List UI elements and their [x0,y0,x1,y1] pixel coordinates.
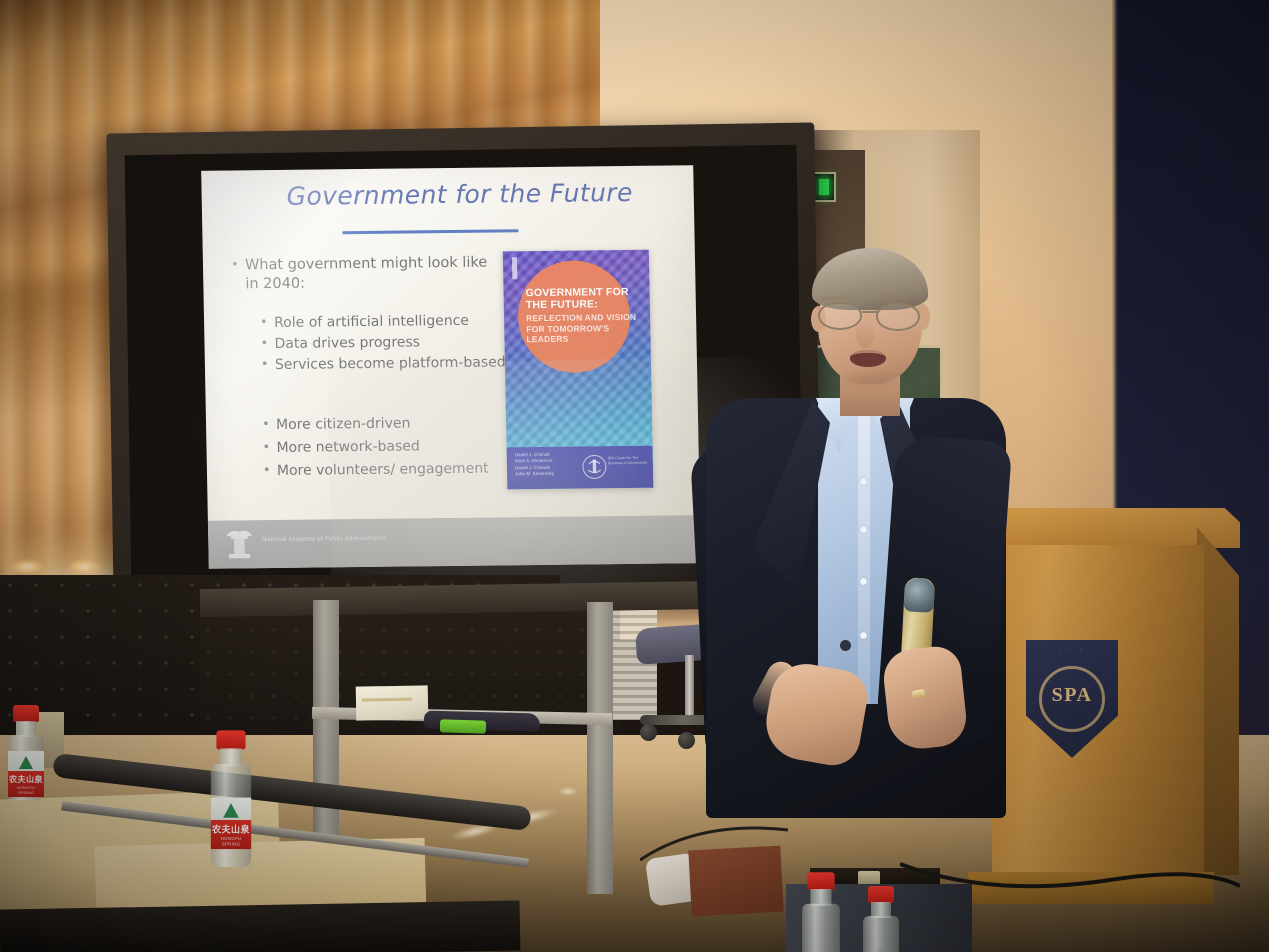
speaker-shirt-placket [858,408,870,704]
pine-tree-icon [19,756,33,769]
eyeglass-lens [876,303,920,331]
water-bottle: 农夫山泉 NONGFU SPRING [207,730,254,867]
speaker-hair [812,248,928,310]
bottle-cap [216,730,245,749]
bullet-item: More network-based [262,435,522,459]
shirt-button [860,578,867,585]
slide-footer-band: National Academy of Public Administratio… [208,515,701,569]
microphone-head [903,577,935,613]
slide-footer-org-text: National Academy of Public Administratio… [262,535,387,544]
classical-column-logo-icon [222,526,257,560]
bottle-brand-cn: 农夫山泉 [8,774,44,785]
book-cover-subtitle: REFLECTION AND VISION FOR TOMORROW'S LEA… [526,312,645,345]
pine-tree-icon [223,803,239,818]
presentation-photo-scene: Government for the Future What governmen… [0,0,1269,952]
bullet-item: Services become platform-based [261,353,511,375]
crest-top-text: · · · [1032,647,1112,654]
water-bottle [860,886,902,952]
radiator-grille [613,610,657,720]
bottle-brand-en: NONGFU SPRING [211,836,251,847]
water-bottle: 农夫山泉 NONGFU SPRING [5,705,47,800]
slide-bullets-level-3: More citizen-driven More network-based M… [262,412,523,484]
bottle-cap [868,886,894,903]
crest-acronym: SPA [1026,684,1118,707]
bullet-item: More citizen-driven [262,412,522,436]
bottle-body [863,916,899,952]
speaker-right-hand [881,644,969,752]
green-indicator-light-icon [812,172,836,202]
shelf-white-box [356,685,429,720]
bottle-body [802,904,840,952]
eyeglass-bridge [862,311,878,313]
book-cover-band: Daniel J. Chenok Mark A. Abramson Daniel… [507,446,654,490]
bullet-item: Role of artificial intelligence [260,311,510,333]
bottle-brand-cn: 农夫山泉 [211,823,251,835]
slide-title: Government for the Future [259,178,660,212]
bottle-label-white [8,751,44,773]
floor-cable [640,820,790,870]
speaker-nose [856,320,874,348]
bullet-item: Data drives progress [260,332,510,354]
jacket-button [840,640,851,651]
slide-bullets-level-1: What government might look like in 2040: [231,253,500,296]
book-cover-title: GOVERNMENT FOR THE FUTURE: [525,286,643,311]
bullet-item: More volunteers/ engagement [263,458,523,482]
shelf-green-device [440,719,486,733]
book-cover-tick [512,257,517,279]
shirt-button [860,526,867,533]
book-cover-publisher: IBM Center for The Business of Governmen… [608,456,648,466]
speaker-mouth [850,350,886,367]
bottle-label-white [211,798,251,823]
shirt-button [860,632,867,639]
slide-bullets-level-2: Role of artificial intelligence Data dri… [260,311,511,377]
floor-cable [900,846,1240,916]
speaker-chin-shadow [830,368,910,392]
book-cover-authors: Daniel J. Chenok Mark A. Abramson Daniel… [515,452,555,478]
bottle-cap [807,872,834,890]
podium-crest: · · · SPA [1026,640,1118,758]
slide-title-underline [342,229,518,234]
office-chair-wheel [640,724,657,741]
bullet-item: What government might look like in 2040: [231,253,500,294]
av-cart-leg [587,602,613,894]
bottle-label-red: 农夫山泉 NONGFU SPRING [211,820,251,849]
presentation-slide: Government for the Future What governmen… [201,165,701,569]
ibm-center-seal-icon [582,454,607,479]
eyeglass-lens [818,302,862,330]
shirt-button [860,478,867,485]
water-bottle [799,872,843,952]
bottle-cap [13,705,39,722]
book-cover-image: GOVERNMENT FOR THE FUTURE: REFLECTION AN… [503,250,654,490]
foreground-dark-strip [0,900,520,952]
bottle-brand-en: NONGFU SPRING [8,785,44,795]
bottle-label-red: 农夫山泉 NONGFU SPRING [8,771,44,797]
